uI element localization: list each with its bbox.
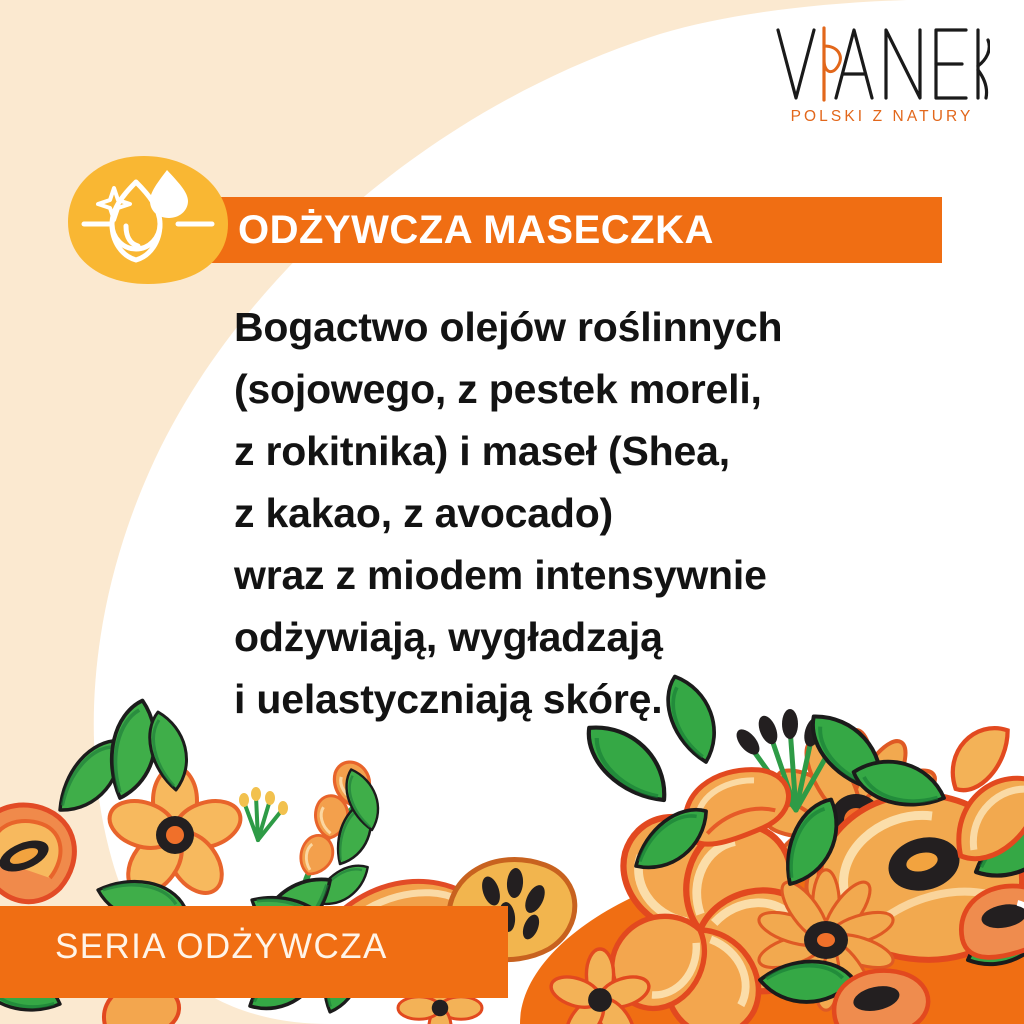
- body-line-5: wraz z miodem intensywnie: [234, 544, 934, 606]
- body-line-5-pre: wraz z: [234, 552, 367, 598]
- body-copy: Bogactwo olejów roślinnych (sojowego, z …: [234, 296, 934, 730]
- body-line-2: (sojowego, z pestek moreli,: [234, 358, 934, 420]
- logo-wordmark: [774, 26, 990, 102]
- body-line-7: i uelastyczniają skórę.: [234, 668, 934, 730]
- badge-blob: [68, 156, 228, 284]
- body-line-1: Bogactwo olejów roślinnych: [234, 296, 934, 358]
- product-badge: [66, 154, 230, 286]
- body-line-5-post: intensywnie: [523, 552, 767, 598]
- logo-tagline: POLSKI Z NATURY: [774, 108, 990, 126]
- body-line-6: odżywiają, wygładzają: [234, 606, 934, 668]
- poster-canvas: SERIA ODŻYWCZA ODŻYWCZA MASECZKA Bogactw…: [0, 0, 1024, 1024]
- headline-title: ODŻYWCZA MASECZKA: [238, 210, 714, 250]
- body-line-5-strong: miodem: [367, 552, 523, 598]
- body-line-3: z rokitnika) i maseł (Shea,: [234, 420, 934, 482]
- body-line-4: z kakao, z avocado): [234, 482, 934, 544]
- series-label: SERIA ODŻYWCZA: [55, 927, 388, 967]
- headline-banner: ODŻYWCZA MASECZKA: [150, 197, 942, 263]
- brand-logo: POLSKI Z NATURY: [774, 26, 990, 136]
